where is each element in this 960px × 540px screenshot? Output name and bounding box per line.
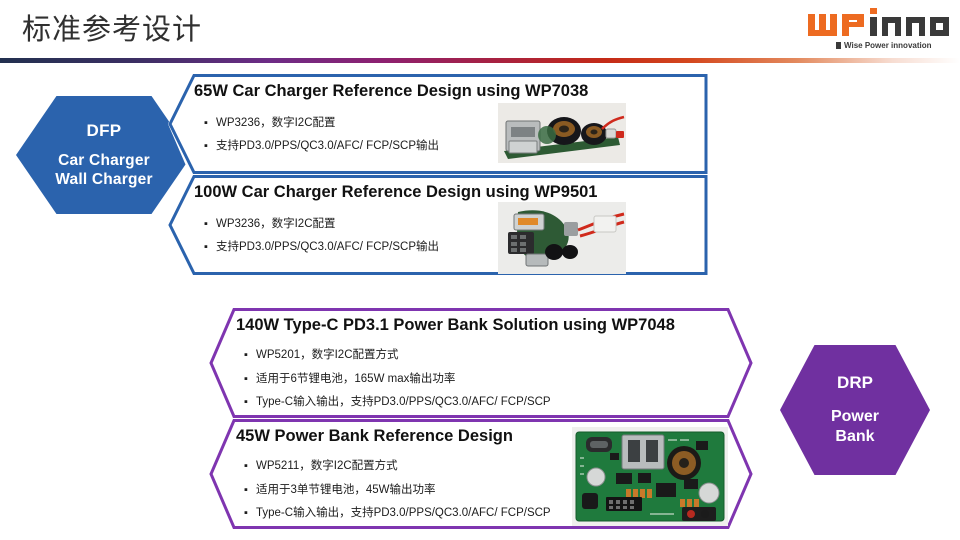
card-bullet-list: ▪ WP5211，数字I2C配置方式 ▪ 适用于3单节锂电池，45W输出功率 ▪… [244, 455, 551, 526]
wpinno-logo-icon [806, 8, 952, 42]
bullet-dot-icon: ▪ [204, 112, 216, 135]
card-bullet-list: ▪ WP3236，数字I2C配置 ▪ 支持PD3.0/PPS/QC3.0/AFC… [204, 112, 439, 158]
logo-tagline: Wise Power innovation [844, 41, 932, 50]
list-item: ▪ WP3236，数字I2C配置 [204, 213, 439, 236]
card-title: 65W Car Charger Reference Design using W… [194, 82, 588, 101]
car-charger-65w-photo [498, 103, 626, 163]
list-item: ▪ 支持PD3.0/PPS/QC3.0/AFC/ FCP/SCP输出 [204, 135, 439, 158]
list-item: ▪ WP3236，数字I2C配置 [204, 112, 439, 135]
bullet-text: WP3236，数字I2C配置 [216, 213, 336, 236]
list-item: ▪ 适用于3单节锂电池，45W输出功率 [244, 479, 551, 503]
badge-drp-title: DRP [837, 373, 873, 393]
bullet-text: 适用于6节锂电池，165W max输出功率 [256, 368, 455, 392]
bullet-dot-icon: ▪ [244, 455, 256, 479]
list-item: ▪ 适用于6节锂电池，165W max输出功率 [244, 368, 551, 392]
reference-design-card-140w[interactable]: 140W Type-C PD3.1 Power Bank Solution us… [208, 308, 753, 418]
list-item: ▪ WP5201，数字I2C配置方式 [244, 344, 551, 368]
reference-design-card-100w[interactable]: 100W Car Charger Reference Design using … [168, 175, 708, 275]
photo-art [498, 103, 626, 163]
card-title: 140W Type-C PD3.1 Power Bank Solution us… [236, 316, 675, 335]
badge-drp-line-2: Bank [831, 427, 879, 447]
bullet-dot-icon: ▪ [244, 344, 256, 368]
bullet-text: Type-C输入输出，支持PD3.0/PPS/QC3.0/AFC/ FCP/SC… [256, 391, 551, 415]
list-item: ▪ Type-C输入输出，支持PD3.0/PPS/QC3.0/AFC/ FCP/… [244, 391, 551, 415]
card-bullet-list: ▪ WP3236，数字I2C配置 ▪ 支持PD3.0/PPS/QC3.0/AFC… [204, 213, 439, 259]
bullet-text: 支持PD3.0/PPS/QC3.0/AFC/ FCP/SCP输出 [216, 135, 439, 158]
bullet-dot-icon: ▪ [204, 135, 216, 158]
card-title: 100W Car Charger Reference Design using … [194, 183, 597, 202]
bullet-text: WP5201，数字I2C配置方式 [256, 344, 399, 368]
header-divider [0, 58, 960, 63]
car-charger-100w-photo [498, 202, 626, 274]
list-item: ▪ 支持PD3.0/PPS/QC3.0/AFC/ FCP/SCP输出 [204, 236, 439, 259]
page-title: 标准参考设计 [22, 6, 202, 48]
badge-drp-power-bank[interactable]: DRP Power Bank [780, 345, 930, 475]
reference-design-card-45w[interactable]: 45W Power Bank Reference Design ▪ WP5211… [208, 419, 753, 529]
list-item: ▪ Type-C输入输出，支持PD3.0/PPS/QC3.0/AFC/ FCP/… [244, 502, 551, 526]
power-bank-45w-photo [572, 427, 728, 526]
card-title: 45W Power Bank Reference Design [236, 427, 513, 446]
bullet-dot-icon: ▪ [244, 479, 256, 503]
reference-design-card-65w[interactable]: 65W Car Charger Reference Design using W… [168, 74, 708, 174]
logo-tagline-marker [836, 42, 841, 49]
bullet-text: 支持PD3.0/PPS/QC3.0/AFC/ FCP/SCP输出 [216, 236, 439, 259]
list-item: ▪ WP5211，数字I2C配置方式 [244, 455, 551, 479]
bullet-dot-icon: ▪ [244, 502, 256, 526]
badge-dfp-title: DFP [87, 121, 122, 141]
company-logo: Wise Power innovation [806, 8, 952, 54]
bullet-text: WP3236，数字I2C配置 [216, 112, 336, 135]
badge-dfp-line-2: Wall Charger [55, 170, 152, 189]
card-bullet-list: ▪ WP5201，数字I2C配置方式 ▪ 适用于6节锂电池，165W max输出… [244, 344, 551, 415]
badge-dfp-line-1: Car Charger [55, 151, 152, 170]
badge-drp-line-1: Power [831, 407, 879, 427]
bullet-dot-icon: ▪ [204, 213, 216, 236]
bullet-dot-icon: ▪ [244, 391, 256, 415]
bullet-text: 适用于3单节锂电池，45W输出功率 [256, 479, 436, 503]
badge-dfp-car-wall-charger[interactable]: DFP Car Charger Wall Charger [16, 96, 192, 214]
bullet-text: Type-C输入输出，支持PD3.0/PPS/QC3.0/AFC/ FCP/SC… [256, 502, 551, 526]
bullet-text: WP5211，数字I2C配置方式 [256, 455, 398, 479]
bullet-dot-icon: ▪ [204, 236, 216, 259]
bullet-dot-icon: ▪ [244, 368, 256, 392]
photo-art [572, 427, 728, 526]
slide-canvas: 标准参考设计 [0, 0, 960, 540]
photo-art [498, 202, 626, 274]
